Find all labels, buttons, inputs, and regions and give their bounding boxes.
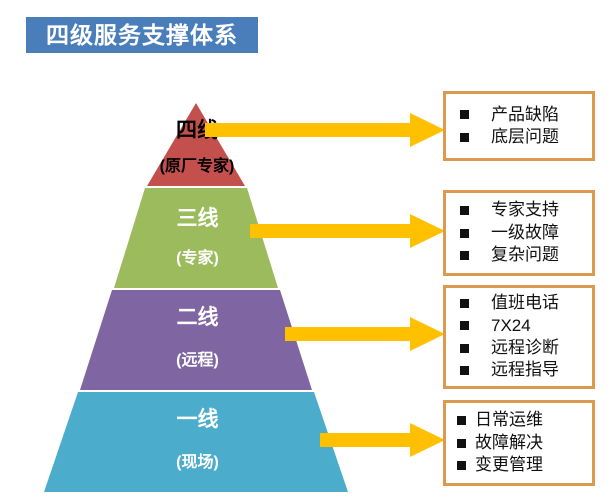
list-item: 远程诊断 [446,337,592,359]
square-bullet-icon [460,251,469,260]
title-banner: 四级服务支撑体系 [26,17,258,53]
square-bullet-icon [460,229,469,238]
pyramid-tier-1-sublabel: (现场) [145,455,250,471]
list-item: 专家支持 [446,199,592,221]
pyramid-tier-2-sublabel: (远程) [145,353,250,369]
square-bullet-icon [460,206,469,215]
callout-list: 值班电话 7X24 远程诊断 远程指导 [446,292,592,382]
list-item-label: 远程指导 [491,359,559,381]
square-bullet-icon [457,461,466,470]
pyramid-tier-4-shape [147,103,245,186]
right-arrow-icon [285,317,445,351]
callout-box-tier-1: 日常运维 故障解决 变更管理 [443,400,595,486]
pyramid-tier-2-shape [80,290,312,390]
right-arrow-icon [320,423,445,457]
arrow-to-box-3 [250,214,445,248]
square-bullet-icon [460,299,469,308]
callout-box-tier-3: 专家支持 一级故障 复杂问题 [443,190,595,276]
pyramid-tier-2-label: 二线 [150,307,245,328]
list-item-label: 产品缺陷 [491,104,559,126]
list-item: 故障解决 [446,432,592,454]
square-bullet-icon [460,344,469,353]
right-arrow-icon [205,113,445,147]
square-bullet-icon [457,416,466,425]
list-item-label: 复杂问题 [491,244,559,266]
arrow-to-box-4 [205,113,445,147]
list-item-label: 底层问题 [491,126,559,148]
square-bullet-icon [460,321,469,330]
pyramid-tier-3-label: 三线 [150,208,245,229]
list-item: 日常运维 [446,409,592,431]
pyramid-tier-3-sublabel: (专家) [145,251,250,267]
callout-box-tier-4: 产品缺陷 底层问题 [443,91,595,161]
list-item: 一级故障 [446,222,592,244]
arrow-to-box-2 [285,317,445,351]
square-bullet-icon [460,110,469,119]
pyramid-tier-4-sublabel: (原厂专家) [132,159,262,175]
list-item: 7X24 [446,315,592,337]
callout-list: 专家支持 一级故障 复杂问题 [446,199,592,266]
pyramid-tier-1-label: 一线 [150,409,245,430]
list-item: 变更管理 [446,454,592,476]
list-item: 复杂问题 [446,244,592,266]
list-item-label: 日常运维 [475,409,543,431]
callout-list: 日常运维 故障解决 变更管理 [446,409,592,476]
right-arrow-icon [250,214,445,248]
callout-list: 产品缺陷 底层问题 [446,104,592,149]
list-item-label: 故障解决 [475,432,543,454]
list-item: 底层问题 [446,126,592,148]
callout-box-tier-2: 值班电话 7X24 远程诊断 远程指导 [443,285,595,389]
arrow-to-box-1 [320,423,445,457]
square-bullet-icon [460,366,469,375]
pyramid-tier-3-shape [114,188,278,288]
pyramid-tier-4-label: 四线 [152,120,242,141]
diagram-canvas: 四级服务支撑体系 四线 (原厂专家) 三线 (专家) 二线 (远程) 一线 (现… [0,0,612,500]
pyramid-tier-1-shape [44,392,348,492]
square-bullet-icon [457,439,466,448]
list-item-label: 专家支持 [491,199,559,221]
list-item-label: 一级故障 [491,222,559,244]
list-item-label: 变更管理 [475,454,543,476]
list-item: 值班电话 [446,292,592,314]
page-title: 四级服务支撑体系 [46,24,238,47]
list-item-label: 7X24 [491,315,531,337]
list-item-label: 远程诊断 [491,337,559,359]
square-bullet-icon [460,133,469,142]
list-item-label: 值班电话 [491,292,559,314]
list-item: 远程指导 [446,359,592,381]
list-item: 产品缺陷 [446,104,592,126]
